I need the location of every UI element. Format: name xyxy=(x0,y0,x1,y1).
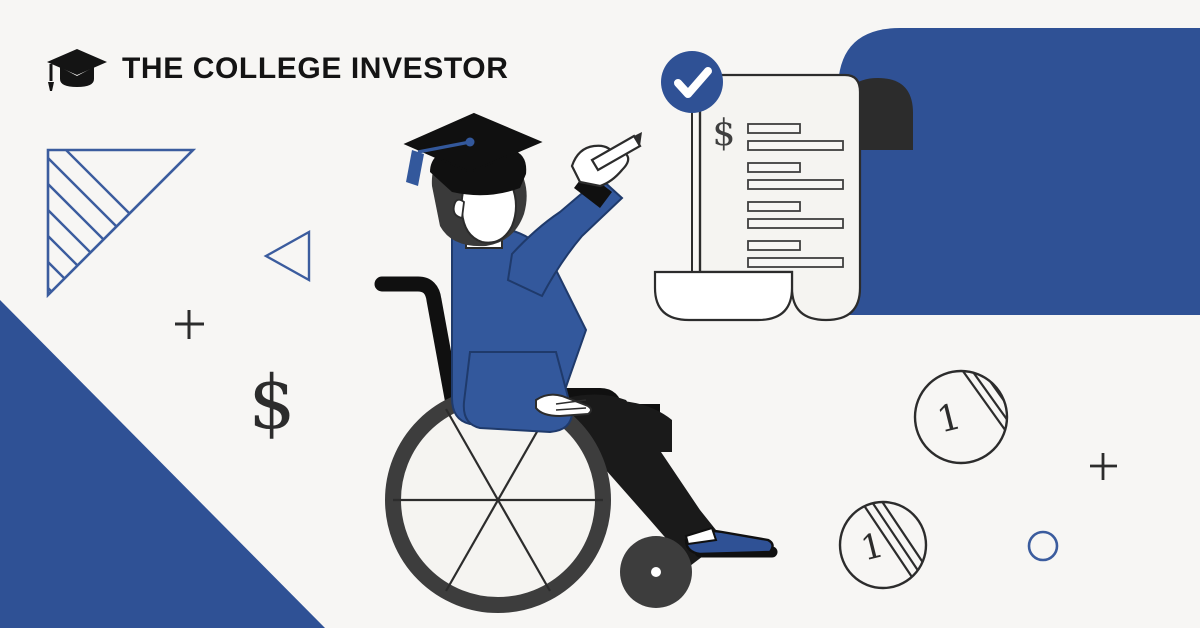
brand-logo[interactable]: THE COLLEGE INVESTOR xyxy=(46,45,509,93)
blue-rounded-panel-top-right xyxy=(838,28,1200,315)
illustration-canvas: $ 1 1 xyxy=(0,0,1200,628)
ear xyxy=(454,200,464,218)
verified-check-badge xyxy=(661,51,723,113)
scene-artwork: $ 1 1 xyxy=(0,0,1200,628)
brand-name: THE COLLEGE INVESTOR xyxy=(122,54,509,84)
wheelchair-caster-wheel xyxy=(620,536,692,608)
graduation-cap-icon xyxy=(46,45,108,93)
jacket-lower-panel xyxy=(464,352,572,432)
dollar-icon-left: $ xyxy=(248,360,295,446)
scroll-dollar-icon: $ xyxy=(713,113,736,154)
